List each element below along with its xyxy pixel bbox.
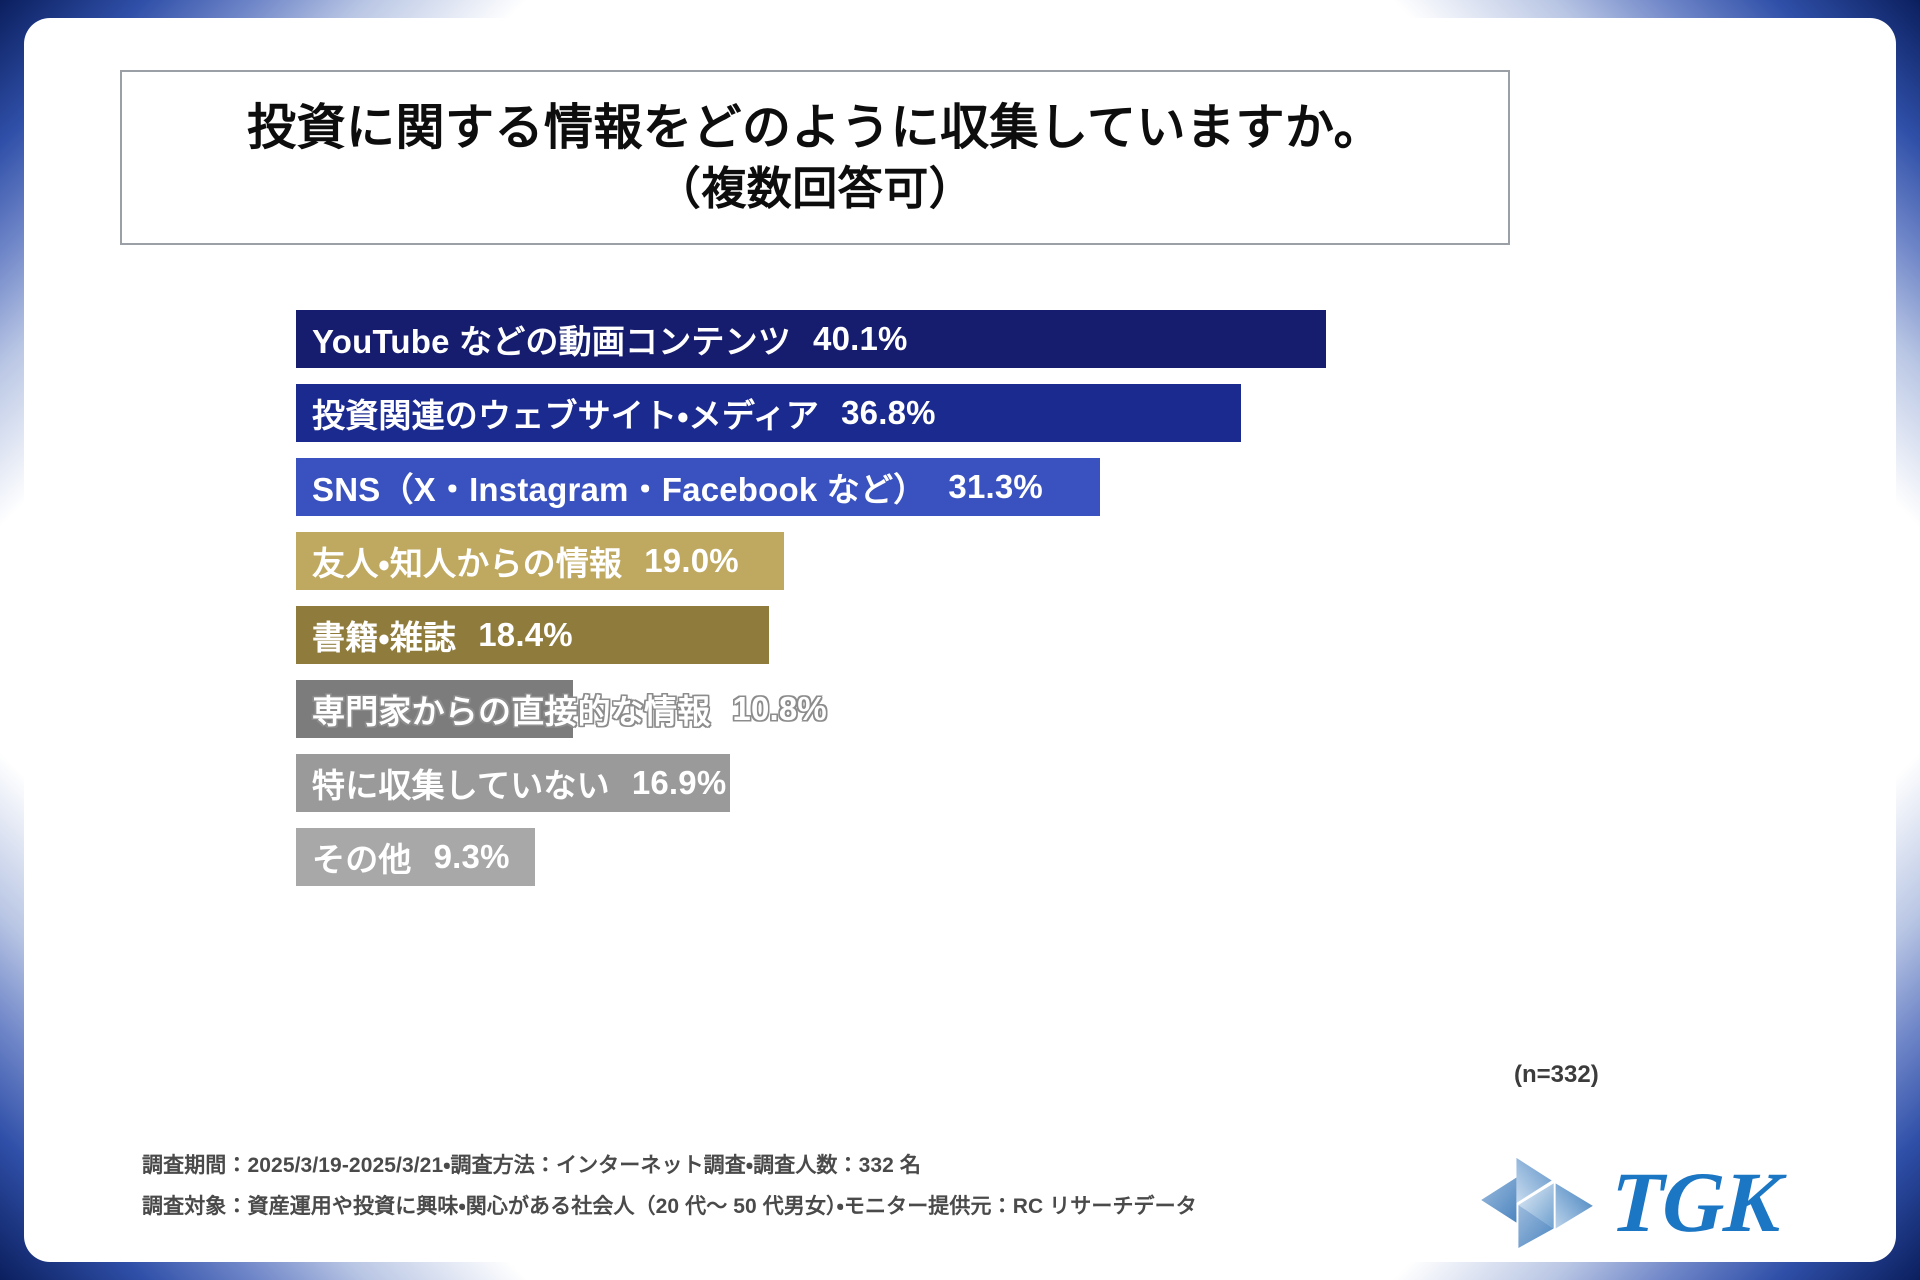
bar-chart: YouTube などの動画コンテンツ 40.1% 投資関連のウェブサイト・メディ… — [296, 310, 1616, 910]
tgk-diamond-mark-icon — [1479, 1154, 1597, 1250]
bar-label-other: その他 9.3% — [312, 828, 510, 886]
bar-category-label: 友人・知人からの情報 — [312, 537, 622, 585]
bar-category-label: 特に収集していない — [312, 759, 610, 807]
bar-label-youtube: YouTube などの動画コンテンツ 40.1% — [312, 310, 908, 368]
bar-row: YouTube などの動画コンテンツ 40.1% — [296, 310, 1616, 368]
slide-card: 投資に関する情報をどのように収集していますか。 （複数回答可） YouTube … — [24, 18, 1896, 1262]
bar-row: 投資関連のウェブサイト・メディア 36.8% — [296, 384, 1616, 442]
bar-row: 専門家からの直接的な情報 10.8% — [296, 680, 1616, 738]
bar-category-label: 書籍・雑誌 — [312, 611, 456, 659]
bar-category-label: その他 — [312, 833, 412, 881]
bar-value-label: 36.8% — [841, 394, 936, 432]
bar-row: その他 9.3% — [296, 828, 1616, 886]
bar-label-books: 書籍・雑誌 18.4% — [312, 606, 573, 664]
slide-background: 投資に関する情報をどのように収集していますか。 （複数回答可） YouTube … — [0, 0, 1920, 1280]
bar-value-label: 18.4% — [478, 616, 573, 654]
logo-wordmark: TGK — [1609, 1159, 1781, 1245]
bar-label-none: 特に収集していない 16.9% — [312, 754, 726, 812]
bar-row: 書籍・雑誌 18.4% — [296, 606, 1616, 664]
bar-value-label: 10.8% — [732, 690, 827, 728]
survey-target-line: 調査対象：資産運用や投資に興味・関心がある社会人（20 代〜 50 代男女）・モ… — [142, 1187, 1382, 1228]
tgk-logo: TGK — [1479, 1142, 1809, 1262]
bar-value-label: 19.0% — [644, 542, 739, 580]
bar-label-friends: 友人・知人からの情報 19.0% — [312, 532, 739, 590]
bar-value-label: 9.3% — [434, 838, 510, 876]
bar-category-label: 投資関連のウェブサイト・メディア — [312, 389, 819, 437]
chart-title-box: 投資に関する情報をどのように収集していますか。 （複数回答可） — [120, 70, 1510, 245]
bar-label-expert: 専門家からの直接的な情報 10.8% — [312, 680, 827, 738]
bar-category-label: YouTube などの動画コンテンツ — [312, 315, 791, 363]
bar-category-label: 専門家からの直接的な情報 — [312, 685, 710, 733]
bar-row: 特に収集していない 16.9% — [296, 754, 1616, 812]
sample-size-note: (n=332) — [1514, 1061, 1599, 1089]
bar-row: 友人・知人からの情報 19.0% — [296, 532, 1616, 590]
page-subtitle: （複数回答可） — [656, 162, 975, 215]
bar-row: SNS（X・Instagram・Facebook など） 31.3% — [296, 458, 1616, 516]
bar-label-sns: SNS（X・Instagram・Facebook など） 31.3% — [312, 458, 1043, 516]
page-title: 投資に関する情報をどのように収集していますか。 — [247, 100, 1383, 158]
survey-footnote: 調査期間：2025/3/19-2025/3/21・調査方法：インターネット調査・… — [142, 1146, 1382, 1228]
bar-label-website: 投資関連のウェブサイト・メディア 36.8% — [312, 384, 936, 442]
bar-value-label: 31.3% — [948, 468, 1043, 506]
bar-value-label: 16.9% — [632, 764, 727, 802]
bar-value-label: 40.1% — [813, 320, 908, 358]
bar-category-label: SNS（X・Instagram・Facebook など） — [312, 463, 926, 511]
survey-period-line: 調査期間：2025/3/19-2025/3/21・調査方法：インターネット調査・… — [142, 1146, 1382, 1187]
